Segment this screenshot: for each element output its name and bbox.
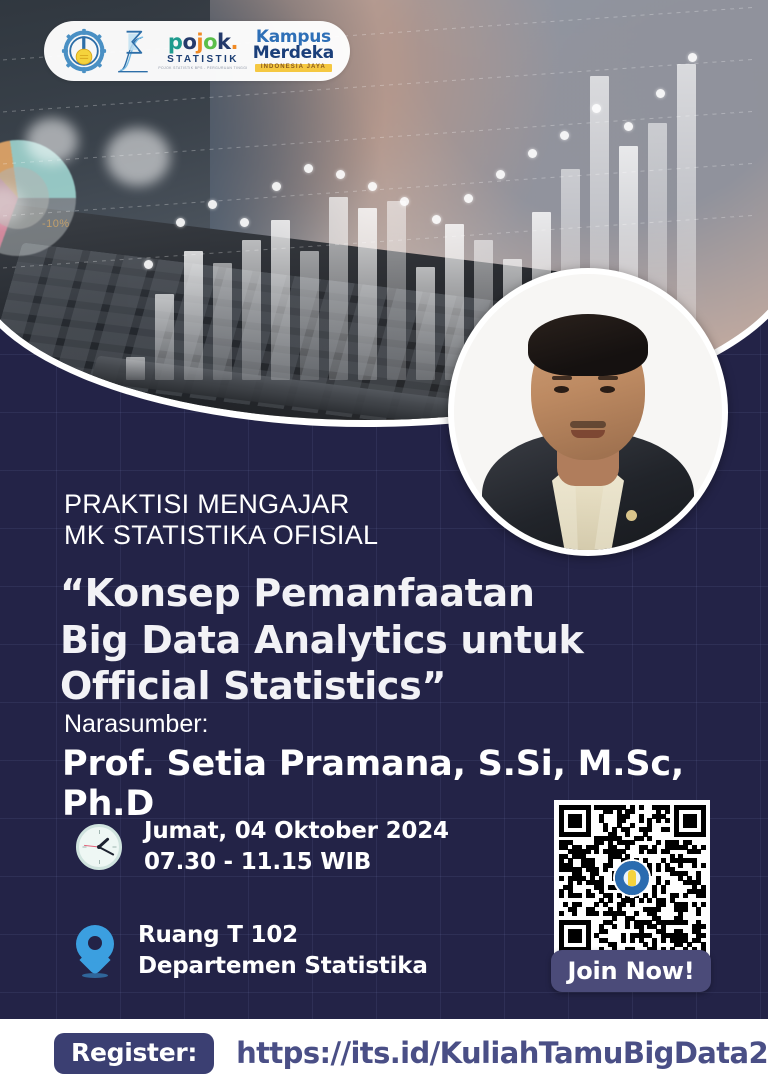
portrait-lapel-pin [626, 510, 637, 521]
register-bar: Register: https://its.id/KuliahTamuBigDa… [0, 1019, 768, 1087]
register-url[interactable]: https://its.id/KuliahTamuBigData2024 [236, 1036, 768, 1070]
kicker-line-2: MK STATISTIKA OFISIAL [64, 520, 464, 551]
venue-room: Ruang T 102 [138, 922, 428, 948]
poster-root: -10% [0, 0, 768, 1087]
portrait-hair [528, 314, 648, 376]
kampus-merdeka-banner: INDONESIA JAYA [255, 64, 332, 72]
portrait-mouth [571, 430, 605, 438]
kampus-merdeka-logo: Kampus Merdeka INDONESIA JAYA [253, 30, 334, 71]
qr-code[interactable] [554, 800, 710, 956]
venue-row: Ruang T 102 Departemen Statistika [76, 922, 428, 979]
register-label: Register: [54, 1033, 214, 1074]
event-date: Jumat, 04 Oktober 2024 [144, 818, 449, 844]
kicker-heading: PRAKTISI MENGAJAR MK STATISTIKA OFISIAL [64, 489, 464, 550]
pojok-tagline: POJOK STATISTIK BPS - PERGURUAN TINGGI [158, 67, 247, 70]
kampus-merdeka-line2: Merdeka [253, 46, 334, 62]
title-line-2: Big Data Analytics untuk [60, 617, 720, 664]
statistika-sigma-logo [113, 28, 153, 74]
venue-department: Departemen Statistika [138, 953, 428, 979]
pojok-subtitle: STATISTIK [167, 55, 239, 65]
portrait-eye [554, 386, 569, 393]
title-line-1: “Konsep Pemanfaatan [60, 570, 720, 617]
speaker-label: Narasumber: [64, 710, 209, 739]
kicker-line-1: PRAKTISI MENGAJAR [64, 489, 464, 520]
page-title: “Konsep Pemanfaatan Big Data Analytics u… [60, 570, 720, 710]
event-time: 07.30 - 11.15 WIB [144, 849, 449, 875]
clock-icon [76, 824, 122, 870]
join-now-button[interactable]: Join Now! [551, 950, 711, 992]
location-pin-icon [76, 925, 116, 977]
portrait-eyebrow [598, 376, 618, 380]
its-logo-qr-center [615, 861, 649, 895]
its-logo [60, 28, 108, 74]
schedule-row: Jumat, 04 Oktober 2024 07.30 - 11.15 WIB [76, 818, 449, 875]
title-line-3: Official Statistics” [60, 663, 720, 710]
pojok-statistik-logo: pojok. STATISTIK POJOK STATISTIK BPS - P… [158, 32, 247, 70]
logo-bar: pojok. STATISTIK POJOK STATISTIK BPS - P… [44, 21, 350, 81]
portrait-eye [600, 386, 615, 393]
venue-text: Ruang T 102 Departemen Statistika [138, 922, 428, 979]
speaker-portrait [448, 268, 728, 556]
portrait-moustache [570, 421, 606, 428]
qr-code-matrix [559, 805, 705, 951]
portrait-eyebrow [552, 376, 572, 380]
schedule-text: Jumat, 04 Oktober 2024 07.30 - 11.15 WIB [144, 818, 449, 875]
pojok-wordmark: pojok. [168, 32, 238, 53]
